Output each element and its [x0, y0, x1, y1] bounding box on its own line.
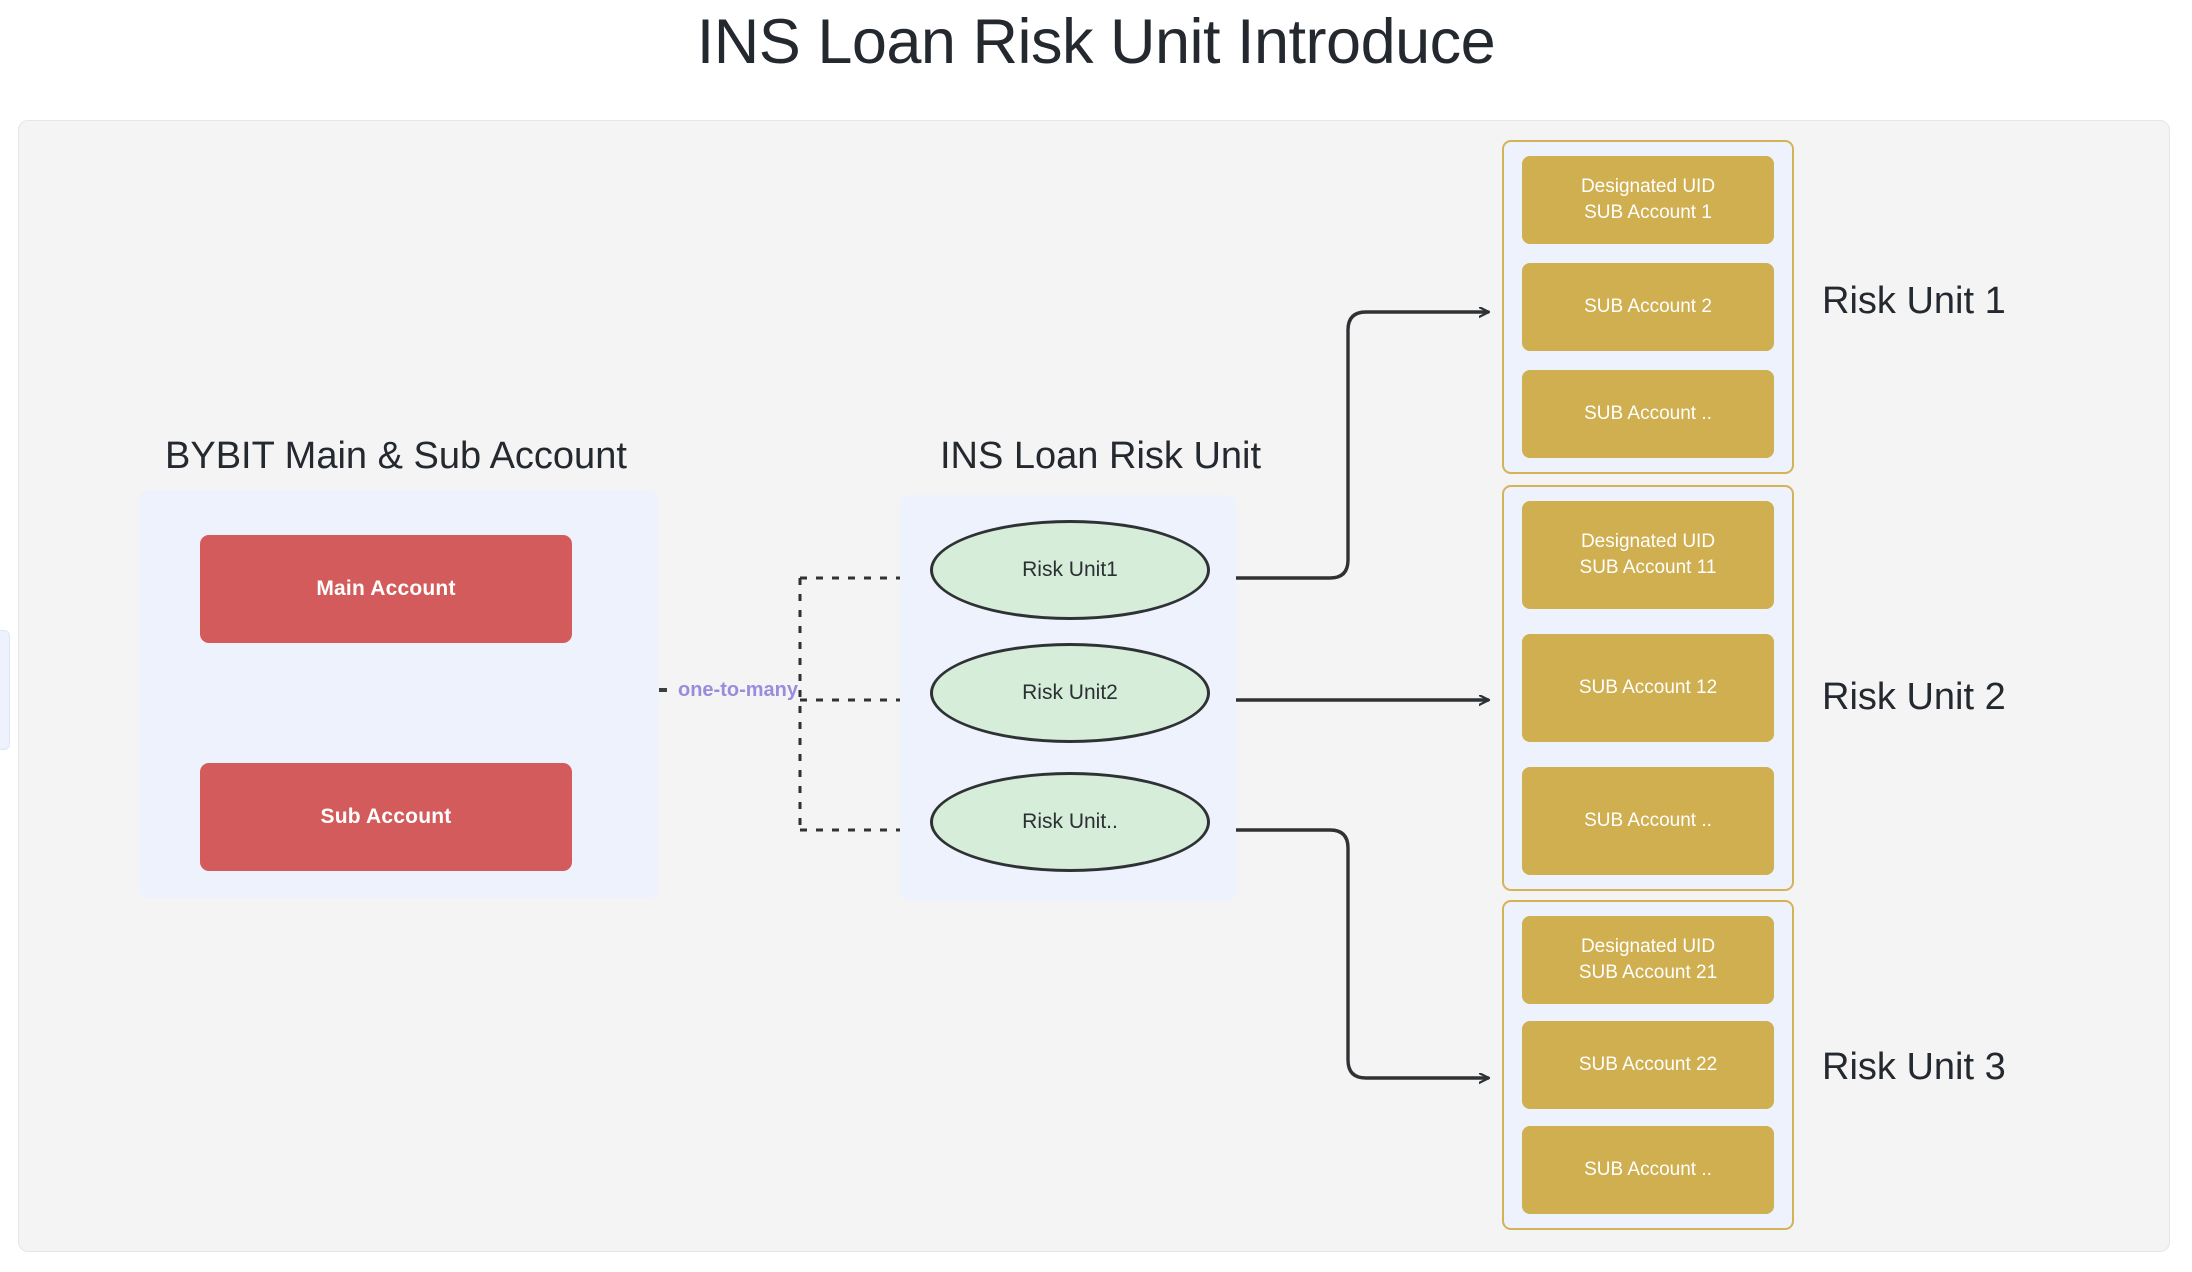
- sub-account-line-1: Designated UID: [1581, 529, 1715, 555]
- sub-account-card[interactable]: SUB Account ..: [1522, 767, 1774, 875]
- risk-unit-group-label-2: Risk Unit 2: [1822, 676, 2006, 719]
- sub-account-line-1: SUB Account 12: [1579, 675, 1717, 701]
- sub-account-line-1: Designated UID: [1581, 934, 1715, 960]
- risk-unit-node-2[interactable]: Risk Unit2: [930, 643, 1210, 743]
- sub-account-card[interactable]: SUB Account ..: [1522, 370, 1774, 458]
- sub-account-line-1: SUB Account ..: [1584, 401, 1712, 427]
- sub-account-line-1: Designated UID: [1581, 174, 1715, 200]
- sub-account-card[interactable]: SUB Account 12: [1522, 634, 1774, 742]
- risk-unit-group-1: Designated UID SUB Account 1 SUB Account…: [1502, 140, 1794, 474]
- sub-account-line-1: SUB Account ..: [1584, 808, 1712, 834]
- sub-account-card[interactable]: SUB Account ..: [1522, 1126, 1774, 1214]
- ins-loan-section-heading: INS Loan Risk Unit: [940, 435, 1261, 478]
- risk-unit-group-3: Designated UID SUB Account 21 SUB Accoun…: [1502, 900, 1794, 1230]
- relation-marker-dot: [659, 688, 667, 692]
- sub-account-line-2: SUB Account 1: [1584, 200, 1712, 226]
- risk-unit-group-2: Designated UID SUB Account 11 SUB Accoun…: [1502, 485, 1794, 891]
- risk-unit-node-1[interactable]: Risk Unit1: [930, 520, 1210, 620]
- sub-account-card[interactable]: Designated UID SUB Account 1: [1522, 156, 1774, 244]
- sub-account-line-2: SUB Account 11: [1580, 555, 1717, 581]
- risk-unit-group-label-1: Risk Unit 1: [1822, 280, 2006, 323]
- sub-account-line-1: SUB Account ..: [1584, 1157, 1712, 1183]
- solid-arrow-risk-unit-3-to-group-3: [1213, 830, 1488, 1078]
- sub-account-line-2: SUB Account 21: [1579, 960, 1717, 986]
- cut-off-panel-sliver: [0, 630, 10, 750]
- sub-account-card[interactable]: Designated UID SUB Account 21: [1522, 916, 1774, 1004]
- risk-unit-group-label-3: Risk Unit 3: [1822, 1046, 2006, 1089]
- risk-unit-node-3[interactable]: Risk Unit..: [930, 772, 1210, 872]
- sub-account-card[interactable]: SUB Account 22: [1522, 1021, 1774, 1109]
- sub-account-card[interactable]: Designated UID SUB Account 11: [1522, 501, 1774, 609]
- sub-account-card[interactable]: SUB Account 2: [1522, 263, 1774, 351]
- sub-account-line-1: SUB Account 2: [1584, 294, 1712, 320]
- page-title: INS Loan Risk Unit Introduce: [0, 6, 2192, 78]
- bybit-section-heading: BYBIT Main & Sub Account: [165, 435, 627, 478]
- sub-account-line-1: SUB Account 22: [1579, 1052, 1717, 1078]
- one-to-many-label: one-to-many: [678, 679, 798, 702]
- main-account-box[interactable]: Main Account: [200, 535, 572, 643]
- sub-account-box[interactable]: Sub Account: [200, 763, 572, 871]
